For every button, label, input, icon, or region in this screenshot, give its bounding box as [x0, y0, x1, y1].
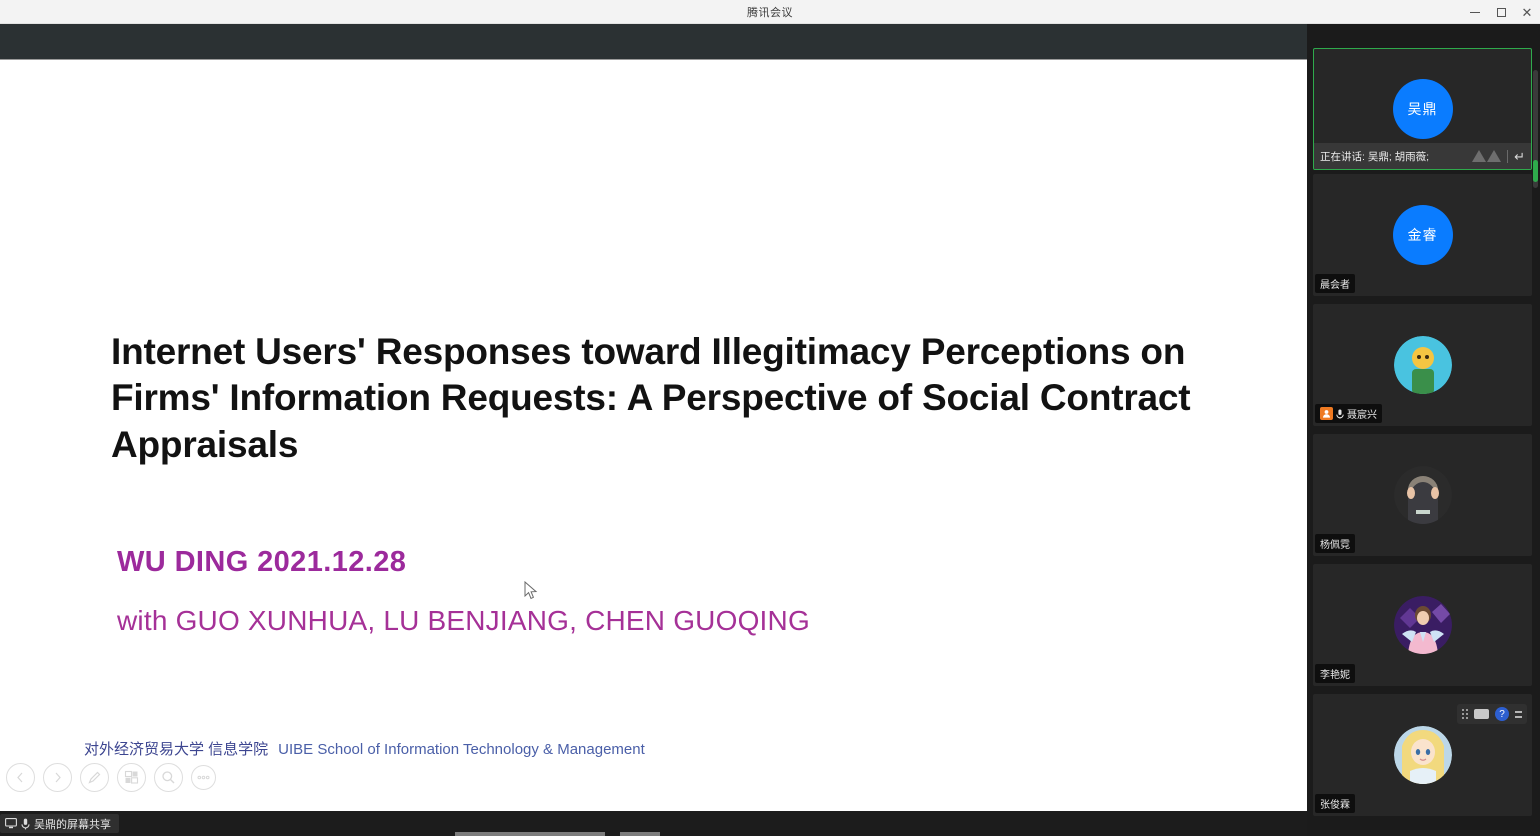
maximize-button[interactable]: [1488, 0, 1514, 24]
all-slides-button[interactable]: [117, 763, 146, 792]
participant-tile-5[interactable]: 张俊霖 ?: [1313, 694, 1532, 816]
participant-nametag: 杨佩霓: [1315, 534, 1355, 553]
restore-icon: [1497, 8, 1506, 17]
minimize-button[interactable]: [1462, 0, 1488, 24]
screen-share-badge-label: 吴鼎的屏幕共享: [34, 816, 111, 832]
participant-nametag: 聂宸兴: [1315, 404, 1382, 423]
screen-icon[interactable]: [1474, 709, 1489, 719]
powerpoint-presenter-toolbar: [6, 763, 216, 792]
screen-share-badge: 吴鼎的屏幕共享: [0, 814, 119, 833]
microphone-icon: [21, 818, 30, 830]
participant-nametag: 张俊霖: [1315, 794, 1355, 813]
slide-author-line: WU DING 2021.12.28: [117, 546, 406, 579]
avatar: [1394, 336, 1452, 394]
chevron-left-icon: [15, 772, 26, 783]
participant-tile-0[interactable]: 吴鼎 正在讲话: 吴鼎; 胡雨薇; ↵: [1313, 48, 1532, 170]
reply-arrow-icon[interactable]: ↵: [1514, 150, 1525, 163]
window-title: 腾讯会议: [747, 4, 793, 20]
pen-icon: [87, 770, 102, 785]
more-options-button[interactable]: [191, 765, 216, 790]
participant-name: 晨会者: [1320, 276, 1350, 291]
tencent-meeting-window: 腾讯会议 ✕ Internet Users' Responses toward …: [0, 0, 1540, 836]
participant-name: 李艳妮: [1320, 666, 1350, 681]
taskbar-segment-1: [455, 832, 605, 836]
avatar: [1394, 466, 1452, 524]
participant-nametag: 晨会者: [1315, 274, 1355, 293]
participant-name: 聂宸兴: [1347, 406, 1377, 421]
magnifier-icon: [161, 770, 176, 785]
monitor-icon: [5, 818, 17, 829]
avatar: 吴鼎: [1393, 79, 1453, 139]
microphone-icon: [1336, 409, 1344, 419]
powerpoint-slide: Internet Users' Responses toward Illegit…: [0, 61, 1307, 811]
rail-scrollbar-thumb[interactable]: [1533, 160, 1538, 182]
grid-slides-icon: [124, 770, 139, 785]
slide-footer-cn: 对外经济贸易大学 信息学院: [84, 741, 268, 758]
taskbar-segment-2: [620, 832, 660, 836]
speaking-indicator-bar: 正在讲话: 吴鼎; 胡雨薇; ↵: [1314, 143, 1531, 169]
shared-screen-area: Internet Users' Responses toward Illegit…: [0, 61, 1307, 811]
drag-handle-icon[interactable]: [1462, 709, 1468, 719]
previous-slide-button[interactable]: [6, 763, 35, 792]
minimize-icon: [1470, 12, 1480, 13]
next-slide-button[interactable]: [43, 763, 72, 792]
ellipsis-icon: [197, 775, 210, 780]
window-title-bar: 腾讯会议 ✕: [0, 0, 1540, 24]
help-icon[interactable]: ?: [1495, 707, 1509, 721]
pen-tool-button[interactable]: [80, 763, 109, 792]
avatar: [1394, 726, 1452, 784]
chevron-right-icon: [52, 772, 63, 783]
participant-nametag: 李艳妮: [1315, 664, 1355, 683]
participant-tile-1[interactable]: 金睿 晨会者: [1313, 174, 1532, 296]
audio-wave-icon: [1472, 150, 1501, 162]
speaking-label: 正在讲话: 吴鼎; 胡雨薇;: [1320, 149, 1466, 164]
more-icon[interactable]: [1515, 711, 1522, 718]
host-badge-icon: [1320, 407, 1333, 420]
slide-coauthor-line: with GUO XUNHUA, LU BENJIANG, CHEN GUOQI…: [117, 605, 810, 637]
avatar: [1394, 596, 1452, 654]
participant-tile-4[interactable]: 李艳妮: [1313, 564, 1532, 686]
close-button[interactable]: ✕: [1514, 0, 1540, 24]
participant-name: 杨佩霓: [1320, 536, 1350, 551]
participant-tile-3[interactable]: 杨佩霓: [1313, 434, 1532, 556]
participant-name: 张俊霖: [1320, 796, 1350, 811]
avatar: 金睿: [1393, 205, 1453, 265]
participant-tile-2[interactable]: 聂宸兴: [1313, 304, 1532, 426]
divider: [1507, 150, 1508, 163]
mouse-cursor: [524, 581, 538, 601]
floating-mini-toolbar[interactable]: ?: [1457, 704, 1527, 724]
rail-scrollbar[interactable]: [1533, 70, 1538, 188]
participant-rail: 吴鼎 正在讲话: 吴鼎; 胡雨薇; ↵ 金睿 晨会者: [1307, 24, 1540, 836]
window-controls: ✕: [1462, 0, 1540, 24]
zoom-button[interactable]: [154, 763, 183, 792]
slide-title: Internet Users' Responses toward Illegit…: [111, 329, 1251, 468]
slide-footer-en: UIBE School of Information Technology & …: [278, 741, 645, 758]
close-icon: ✕: [1522, 8, 1533, 17]
slide-footer: 对外经济贸易大学 信息学院UIBE School of Information …: [84, 738, 645, 759]
